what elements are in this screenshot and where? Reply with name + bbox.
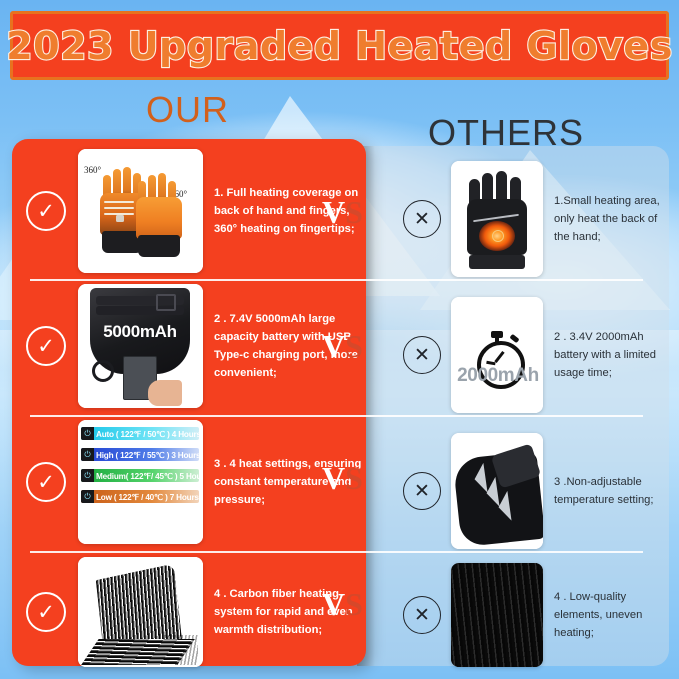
our-row-4-image bbox=[78, 557, 203, 667]
our-row-3: ✓ ⏻ Auto ( 122℉ / 50℃ ) 4 Hours ⏻ High (… bbox=[12, 417, 366, 547]
our-row-2-image: 5000mAh bbox=[78, 284, 203, 408]
cross-icon: ✕ bbox=[403, 200, 441, 238]
others-row-1: ✕ 1.Small heating area, only heat the ba… bbox=[357, 160, 669, 278]
cross-icon: ✕ bbox=[403, 596, 441, 634]
heat-setting-label: Auto ( 122℉ / 50℃ ) 4 Hours bbox=[94, 429, 199, 439]
check-icon: ✓ bbox=[26, 191, 66, 231]
our-row-3-image: ⏻ Auto ( 122℉ / 50℃ ) 4 Hours ⏻ High ( 1… bbox=[78, 420, 203, 544]
heat-setting-auto: ⏻ Auto ( 122℉ / 50℃ ) 4 Hours bbox=[81, 427, 199, 440]
heat-setting-high: ⏻ High ( 122℉ / 55℃ ) 3 Hours bbox=[81, 448, 199, 461]
heat-setting-label: Medium( 122℉/ 45℃ ) 5 Hours bbox=[94, 471, 199, 481]
our-row-1: ✓ 360° 360° bbox=[12, 146, 366, 276]
check-icon: ✓ bbox=[26, 326, 66, 366]
degree-label: 360° bbox=[84, 165, 101, 175]
heat-setting-low: ⏻ Low ( 122℉ / 40℃ ) 7 Hours bbox=[81, 490, 199, 503]
glove-right-shape bbox=[136, 171, 182, 255]
others-row-1-image bbox=[451, 161, 543, 277]
our-row-2: ✓ 5000mAh 2 . 7.4V 5000mAh large capacit… bbox=[12, 281, 366, 411]
others-row-2-caption: 2 . 3.4V 2000mAh battery with a limited … bbox=[554, 328, 669, 382]
check-icon: ✓ bbox=[26, 592, 66, 632]
cross-icon: ✕ bbox=[403, 472, 441, 510]
heat-setting-label: Low ( 122℉ / 40℃ ) 7 Hours bbox=[94, 492, 199, 502]
our-row-1-image: 360° 360° bbox=[78, 149, 203, 273]
battery-capacity-overlay: 5000mAh bbox=[90, 322, 190, 342]
heat-setting-medium: ⏻ Medium( 122℉/ 45℃ ) 5 Hours bbox=[81, 469, 199, 482]
power-icon: ⏻ bbox=[81, 490, 94, 503]
check-icon: ✓ bbox=[26, 462, 66, 502]
others-row-4-image bbox=[451, 563, 543, 667]
heat-setting-label: High ( 122℉ / 55℃ ) 3 Hours bbox=[94, 450, 199, 460]
power-icon: ⏻ bbox=[81, 427, 94, 440]
others-row-2: ✕ 2000mAh 2 . 3.4V 2000mAh battery with … bbox=[357, 296, 669, 414]
header-banner: 2023 Upgraded Heated Gloves bbox=[10, 11, 669, 80]
banner-title: 2023 Upgraded Heated Gloves bbox=[6, 24, 673, 68]
power-icon: ⏻ bbox=[81, 469, 94, 482]
others-row-4-caption: 4 . Low-quality elements, uneven heating… bbox=[554, 588, 669, 642]
our-row-4: ✓ 4 . Carbon fiber heating system for ra… bbox=[12, 553, 366, 671]
heat-settings-list: ⏻ Auto ( 122℉ / 50℃ ) 4 Hours ⏻ High ( 1… bbox=[78, 420, 203, 544]
infographic-canvas: 2023 Upgraded Heated Gloves OUR OTHERS ✓… bbox=[0, 0, 679, 679]
others-row-3: ✕ 3 .Non-adjustable temperature setting; bbox=[357, 432, 669, 550]
others-row-2-image: 2000mAh bbox=[451, 297, 543, 413]
others-row-3-caption: 3 .Non-adjustable temperature setting; bbox=[554, 473, 669, 509]
power-icon: ⏻ bbox=[81, 448, 94, 461]
cross-icon: ✕ bbox=[403, 336, 441, 374]
others-capacity-overlay: 2000mAh bbox=[451, 365, 543, 387]
others-row-4: ✕ 4 . Low-quality elements, uneven heati… bbox=[357, 560, 669, 670]
others-row-3-image bbox=[451, 433, 543, 549]
others-row-1-caption: 1.Small heating area, only heat the back… bbox=[554, 192, 669, 246]
our-column-heading: OUR bbox=[146, 89, 229, 131]
